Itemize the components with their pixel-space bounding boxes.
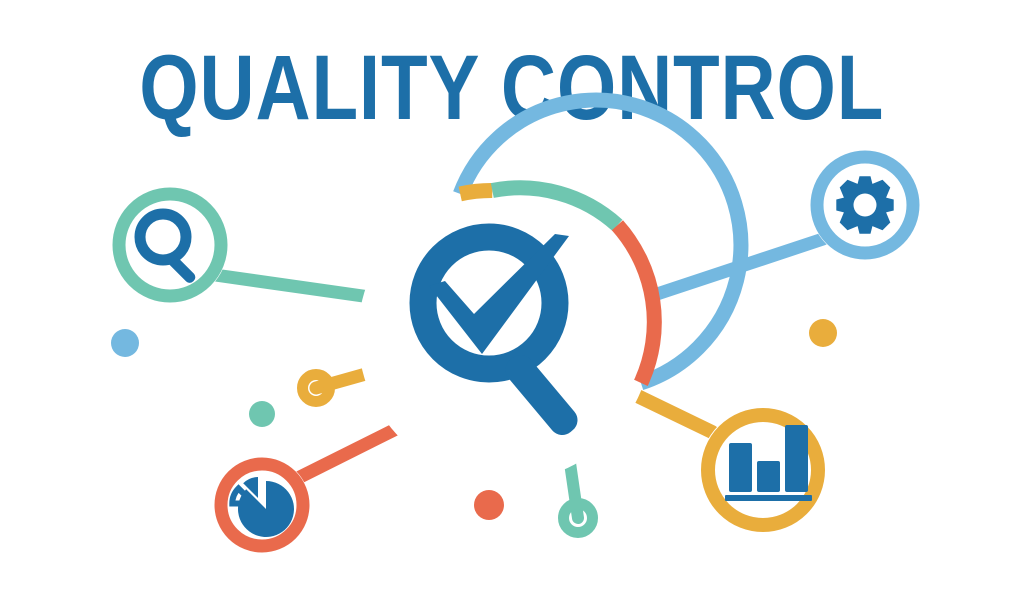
connector-report <box>296 427 400 479</box>
connector-inspection <box>208 274 377 298</box>
node-settings[interactable] <box>810 150 920 260</box>
quality-control-diagram <box>0 0 1024 614</box>
infographic-canvas: QUALITY CONTROL <box>0 0 1024 614</box>
bar-2 <box>757 461 780 492</box>
accent-dot-coral <box>474 490 504 520</box>
accent-dot-light-blue <box>111 329 139 357</box>
bar-3 <box>785 425 808 492</box>
node-inspection[interactable] <box>112 187 228 303</box>
accent-dot-gold <box>809 319 837 347</box>
accent-dot-teal <box>249 401 275 427</box>
node-analytics[interactable] <box>700 407 826 533</box>
node-report-ring-bg <box>214 457 310 553</box>
gear-icon <box>836 176 893 233</box>
gold-segment <box>460 190 492 193</box>
bar-chart-baseline <box>725 495 812 501</box>
bar-1 <box>729 443 752 492</box>
node-report[interactable] <box>214 457 310 553</box>
